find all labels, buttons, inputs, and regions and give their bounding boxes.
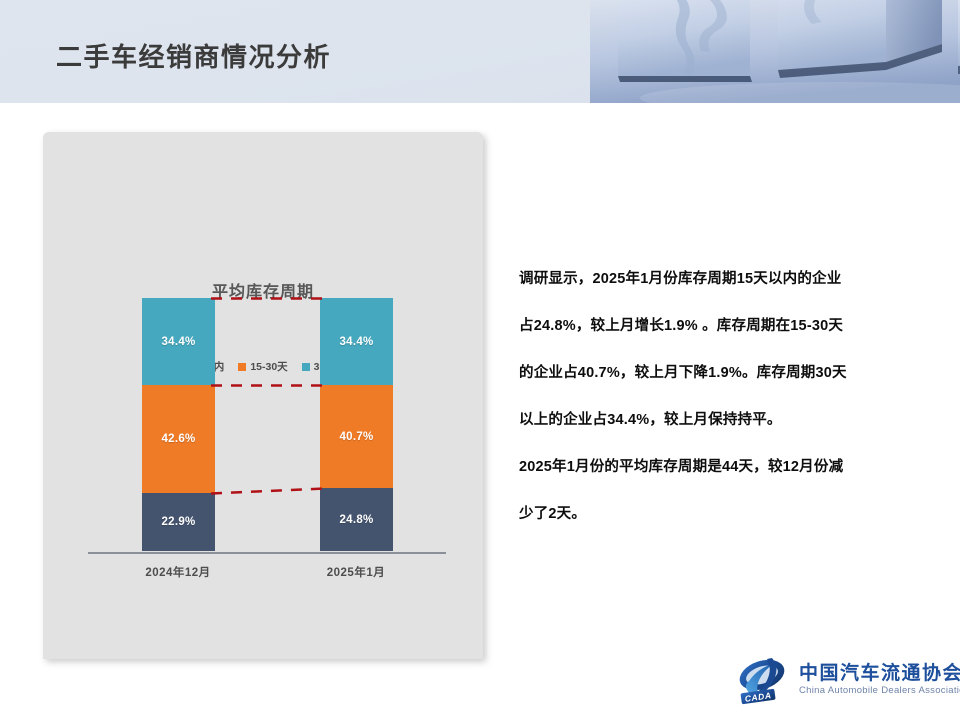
bar-segment-label-within-15-days-dec: 22.9% (161, 516, 195, 528)
cada-emblem-label: CADA (744, 690, 772, 704)
cubes-decor-svg (590, 0, 960, 103)
narrative-text-block: 调研显示，2025年1月份库存周期15天以内的企业 占24.8%，较上月增长1.… (519, 256, 929, 538)
x-axis-line (88, 552, 446, 554)
logo-name-cn: 中国汽车流通协会 (799, 663, 960, 685)
bar-segment-within-15-days-dec[interactable]: 22.9% (142, 493, 215, 551)
bar-segment-label-within-15-days-jan: 24.8% (339, 514, 373, 526)
bar-segment-label-over-30-days-dec: 34.4% (161, 336, 195, 348)
bar-segment-label-over-30-days-jan: 34.4% (339, 336, 373, 348)
narrative-line: 调研显示，2025年1月份库存周期15天以内的企业 (519, 256, 929, 303)
logo-text: 中国汽车流通协会 China Automobile Dealers Associ… (799, 663, 960, 697)
page-title: 二手车经销商情况分析 (56, 37, 331, 74)
blue-cubes-globe-image (590, 0, 960, 103)
bar-segment-over-30-days-dec[interactable]: 34.4% (142, 298, 215, 385)
chart-panel: 平均库存周期 15天以内 15-30天 30天以上 34.4% 42.6% 22… (43, 132, 483, 659)
cada-emblem-icon: CADA (737, 655, 791, 705)
bar-segment-within-15-days-jan[interactable]: 24.8% (320, 488, 393, 551)
narrative-line: 少了2天。 (519, 491, 929, 538)
bar-segment-label-15-to-30-days-jan: 40.7% (339, 431, 373, 443)
narrative-line: 占24.8%，较上月增长1.9% 。库存周期在15-30天 (519, 303, 929, 350)
footer-logo: CADA 中国汽车流通协会 China Automobile Dealers A… (737, 652, 949, 708)
connector-line-bottom (211, 489, 324, 494)
narrative-line: 以上的企业占34.4%，较上月保持持平。 (519, 397, 929, 444)
x-axis-label-2025-01: 2025年1月 (286, 564, 426, 580)
narrative-line: 2025年1月份的平均库存周期是44天，较12月份减 (519, 444, 929, 491)
logo-name-en: China Automobile Dealers Association (799, 685, 960, 697)
header-band: 二手车经销商情况分析 (0, 0, 960, 103)
plot-area: 34.4% 42.6% 22.9% 34.4% 40.7% 24.8% (43, 132, 483, 659)
bar-segment-over-30-days-jan[interactable]: 34.4% (320, 298, 393, 385)
bar-segment-label-15-to-30-days-dec: 42.6% (161, 433, 195, 445)
bar-segment-15-to-30-days-jan[interactable]: 40.7% (320, 385, 393, 488)
bar-segment-15-to-30-days-dec[interactable]: 42.6% (142, 385, 215, 493)
x-axis-label-2024-12: 2024年12月 (108, 564, 248, 580)
narrative-line: 的企业占40.7%，较上月下降1.9%。库存周期30天 (519, 350, 929, 397)
